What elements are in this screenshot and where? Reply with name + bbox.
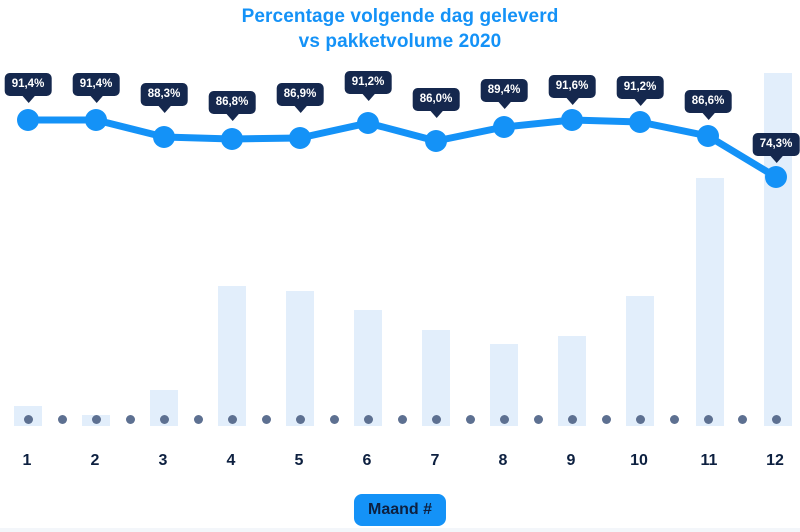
x-axis-tick-label: 1 bbox=[23, 452, 32, 470]
x-axis-tick-label: 8 bbox=[499, 452, 508, 470]
axis-dot bbox=[160, 415, 169, 424]
x-axis-tick-label: 2 bbox=[91, 452, 100, 470]
data-label-callout: 91,2% bbox=[617, 76, 664, 99]
data-label-callout: 89,4% bbox=[481, 79, 528, 102]
axis-dot bbox=[58, 415, 67, 424]
x-axis-tick-label: 6 bbox=[363, 452, 372, 470]
axis-dot bbox=[398, 415, 407, 424]
axis-dot bbox=[670, 415, 679, 424]
data-label-callout: 86,8% bbox=[209, 91, 256, 114]
axis-dot bbox=[194, 415, 203, 424]
data-label-callout: 91,4% bbox=[73, 73, 120, 96]
axis-title-badge: Maand # bbox=[354, 494, 446, 526]
data-label-callout: 91,4% bbox=[5, 73, 52, 96]
axis-dot bbox=[602, 415, 611, 424]
axis-dot bbox=[24, 415, 33, 424]
data-label-callout: 91,6% bbox=[549, 75, 596, 98]
data-label-callout: 86,0% bbox=[413, 88, 460, 111]
data-label-callout: 86,6% bbox=[685, 90, 732, 113]
x-axis-tick-label: 12 bbox=[766, 452, 784, 470]
x-axis-tick-label: 4 bbox=[227, 452, 236, 470]
axis-dot bbox=[432, 415, 441, 424]
data-label-callout: 88,3% bbox=[141, 83, 188, 106]
axis-dot bbox=[228, 415, 237, 424]
data-label-callout: 86,9% bbox=[277, 83, 324, 106]
x-axis-tick-label: 10 bbox=[630, 452, 648, 470]
axis-dot bbox=[772, 415, 781, 424]
plot-area: 91,4%91,4%88,3%86,8%86,9%91,2%86,0%89,4%… bbox=[0, 0, 800, 440]
x-axis: 123456789101112 bbox=[0, 452, 800, 482]
axis-dot-row bbox=[0, 0, 800, 440]
x-axis-tick-label: 7 bbox=[431, 452, 440, 470]
axis-dot bbox=[262, 415, 271, 424]
chart-container: Percentage volgende dag geleverd vs pakk… bbox=[0, 0, 800, 532]
x-axis-tick-label: 9 bbox=[567, 452, 576, 470]
axis-dot bbox=[500, 415, 509, 424]
bottom-strip bbox=[0, 528, 800, 532]
data-label-callout: 74,3% bbox=[753, 133, 800, 156]
axis-dot bbox=[738, 415, 747, 424]
axis-dot bbox=[364, 415, 373, 424]
axis-dot bbox=[704, 415, 713, 424]
x-axis-tick-label: 3 bbox=[159, 452, 168, 470]
axis-dot bbox=[534, 415, 543, 424]
axis-dot bbox=[330, 415, 339, 424]
x-axis-tick-label: 5 bbox=[295, 452, 304, 470]
axis-dot bbox=[296, 415, 305, 424]
data-label-callout: 91,2% bbox=[345, 71, 392, 94]
axis-dot bbox=[126, 415, 135, 424]
axis-dot bbox=[466, 415, 475, 424]
x-axis-tick-label: 11 bbox=[701, 452, 718, 470]
axis-dot bbox=[92, 415, 101, 424]
axis-dot bbox=[568, 415, 577, 424]
axis-dot bbox=[636, 415, 645, 424]
